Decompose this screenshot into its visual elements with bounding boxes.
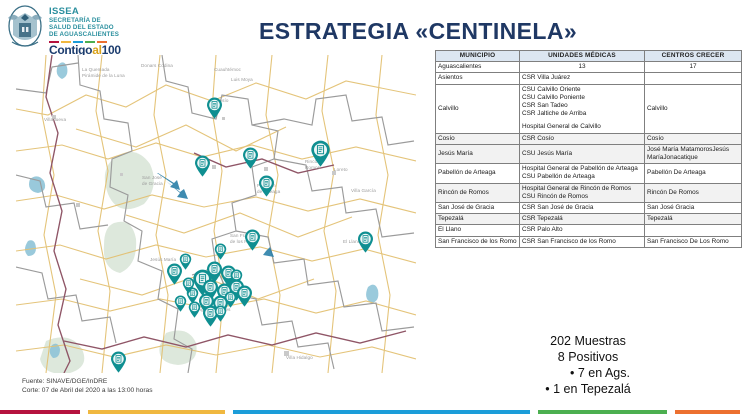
cell-centros-crecer: San José Gracia	[645, 203, 742, 214]
table-row: El LlanoCSR Palo Alto	[436, 225, 742, 236]
table-row: Rincón de RomosHospital General de Rincó…	[436, 183, 742, 202]
table-row: CosíoCSR CosíoCosío	[436, 133, 742, 144]
bottom-bar-segment	[88, 410, 225, 414]
cell-unidades-medicas: CSR Palo Alto	[520, 225, 645, 236]
bottom-bar-segment	[0, 410, 80, 414]
document-pin-icon[interactable]	[214, 243, 227, 260]
cell-municipio: Jesús María	[436, 144, 520, 163]
document-pin-icon[interactable]	[182, 277, 195, 294]
document-pin-icon[interactable]	[214, 305, 227, 322]
column-header-centros-crecer: CENTROS CRECER	[645, 51, 742, 62]
cell-municipio: El Llano	[436, 225, 520, 236]
table-row: Pabellón de ArteagaHospital General de P…	[436, 164, 742, 183]
cell-municipio: Calvillo	[436, 84, 520, 133]
document-pin-icon[interactable]	[174, 295, 187, 312]
cell-unidades-medicas: CSU Jesús María	[520, 144, 645, 163]
summary-bullet-ags: • 7 en Ags.	[435, 365, 741, 381]
bottom-bar-segment	[233, 410, 531, 414]
issea-logo: ISSEA SECRETARÍA DE SALUD DEL ESTADO DE …	[6, 4, 121, 57]
centinela-table: MUNICIPIO UNIDADES MÉDICAS CENTROS CRECE…	[435, 50, 742, 248]
summary-block: 202 Muestras 8 Positivos • 7 en Ags. • 1…	[435, 333, 741, 397]
logo-subtitle-line2: SALUD DEL ESTADO	[49, 24, 121, 31]
cell-centros-crecer	[645, 73, 742, 84]
cell-unidades-medicas: CSR Tepezalá	[520, 214, 645, 225]
cell-centros-crecer: Pabellón De Arteaga	[645, 164, 742, 183]
map-label: Pirámide de la Luna	[82, 73, 125, 78]
page-title: ESTRATEGIA «CENTINELA»	[228, 18, 608, 45]
cell-unidades-medicas: CSR San Francisco de los Romo	[520, 236, 645, 247]
table-header-row: MUNICIPIO UNIDADES MÉDICAS CENTROS CRECE…	[436, 51, 742, 62]
cell-unidades-medicas: CSR San José de Gracia	[520, 203, 645, 214]
map-label: Cuauhtémoc	[214, 67, 241, 72]
cell-municipio: San José de Gracia	[436, 203, 520, 214]
map-label: Villanueva	[44, 117, 66, 122]
cell-centros-crecer: Rincón De Romos	[645, 183, 742, 202]
cell-unidades-medicas: Hospital General de Pabellón de ArteagaC…	[520, 164, 645, 183]
coat-of-arms-icon	[6, 4, 44, 50]
cell-unidades-medicas: Hospital General de Rincón de RomosCSU R…	[520, 183, 645, 202]
table-row: San Francisco de los RomoCSR San Francis…	[436, 236, 742, 247]
document-pin-icon[interactable]	[236, 285, 253, 307]
table-row: TepezaláCSR TepezaláTepezalá	[436, 214, 742, 225]
cell-municipio: Cosío	[436, 133, 520, 144]
document-pin-icon[interactable]	[110, 351, 127, 373]
map-label: Villa García	[351, 188, 376, 193]
cell-centros-crecer: Cosío	[645, 133, 742, 144]
column-header-unidades-medicas: UNIDADES MÉDICAS	[520, 51, 645, 62]
bottom-color-bar	[0, 410, 748, 414]
source-line-1: Fuente: SINAVE/DGE/InDRE	[22, 378, 153, 387]
table-row: AsientosCSR Villa Juárez	[436, 73, 742, 84]
table-row: Jesús MaríaCSU Jesús MaríaJosé María Mat…	[436, 144, 742, 163]
map-label: La Quemada	[82, 67, 110, 72]
bottom-bar-segment	[675, 410, 740, 414]
map-label: de Gracia	[142, 181, 163, 186]
cell-municipio: Asientos	[436, 73, 520, 84]
document-pin-icon[interactable]	[179, 253, 192, 270]
source-line-2: Corte: 07 de Abril del 2020 a las 13:00 …	[22, 387, 153, 396]
table-row: Aguascalientes1317	[436, 62, 742, 73]
table-row: San José de GraciaCSR San José de Gracia…	[436, 203, 742, 214]
logo-subtitle-line1: SECRETARÍA DE	[49, 17, 121, 24]
summary-bullet-tepezala: • 1 en Tepezalá	[435, 381, 741, 397]
source-footnote: Fuente: SINAVE/DGE/InDRE Corte: 07 de Ab…	[22, 378, 153, 395]
map-label: Luis Moya	[231, 77, 253, 82]
slide-root: ISSEA SECRETARÍA DE SALUD DEL ESTADO DE …	[0, 0, 748, 418]
cell-centros-crecer: San Francisco De Los Romo	[645, 236, 742, 247]
cell-municipio: Aguascalientes	[436, 62, 520, 73]
map-label: Loreto	[334, 167, 348, 172]
cell-centros-crecer: Calvillo	[645, 84, 742, 133]
cell-unidades-medicas: CSR Cosío	[520, 133, 645, 144]
document-pin-icon[interactable]	[206, 97, 223, 119]
table-row: CalvilloCSU Calvillo OrienteCSU Calvillo…	[436, 84, 742, 133]
document-pin-icon[interactable]	[188, 301, 201, 318]
centinela-table-wrapper: MUNICIPIO UNIDADES MÉDICAS CENTROS CRECE…	[435, 50, 741, 248]
cell-centros-crecer: Tepezalá	[645, 214, 742, 225]
logo-subtitle-line3: DE AGUASCALIENTES	[49, 31, 121, 38]
map-label: San José	[142, 175, 162, 180]
cell-municipio: Tepezalá	[436, 214, 520, 225]
cell-centros-crecer	[645, 225, 742, 236]
right-edge-spacer	[744, 0, 748, 418]
map-label: Jesús María	[150, 257, 176, 262]
logo-issea-text: ISSEA	[49, 7, 121, 17]
map-label: Donars Codina	[141, 63, 173, 68]
cell-unidades-medicas: 13	[520, 62, 645, 73]
document-pin-icon[interactable]	[357, 231, 374, 253]
document-pin-icon[interactable]	[244, 229, 261, 251]
bottom-bar-segment	[538, 410, 667, 414]
document-pin-icon[interactable]	[258, 175, 275, 197]
column-header-municipio: MUNICIPIO	[436, 51, 520, 62]
summary-positivos: 8 Positivos	[435, 349, 741, 365]
cell-municipio: Pabellón de Arteaga	[436, 164, 520, 183]
cell-unidades-medicas: CSU Calvillo OrienteCSU Calvillo Ponient…	[520, 84, 645, 133]
cell-centros-crecer: 17	[645, 62, 742, 73]
cell-unidades-medicas: CSR Villa Juárez	[520, 73, 645, 84]
cell-municipio: San Francisco de los Romo	[436, 236, 520, 247]
document-pin-icon[interactable]	[310, 140, 331, 167]
table-body: Aguascalientes1317AsientosCSR Villa Juár…	[436, 62, 742, 248]
cell-centros-crecer: José María MatamorosJesús MaríaJonacatiq…	[645, 144, 742, 163]
document-pin-icon[interactable]	[194, 155, 211, 177]
summary-muestras: 202 Muestras	[435, 333, 741, 349]
map-panel[interactable]: Donars CodinaCuauhtémocLuis MoyaCosíoLor…	[16, 55, 416, 373]
document-pin-icon[interactable]	[242, 147, 259, 169]
map-label: Villa Hidalgo	[286, 355, 313, 360]
cell-municipio: Rincón de Romos	[436, 183, 520, 202]
